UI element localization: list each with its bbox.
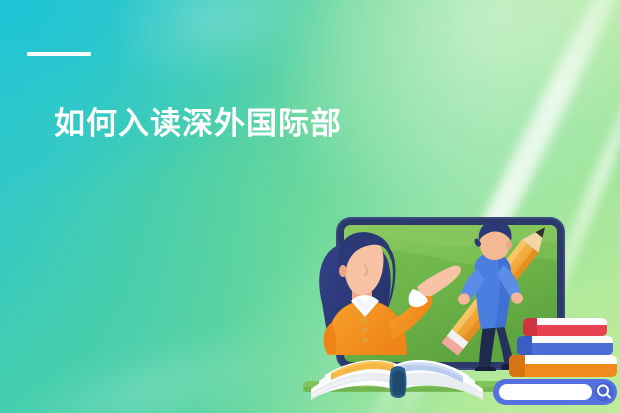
book-stack	[509, 318, 617, 377]
title-rule	[27, 52, 91, 56]
poster-root: 如何入读深外国际部	[0, 0, 620, 413]
page-title: 如何入读深外国际部	[54, 104, 342, 144]
search-bar[interactable]	[493, 379, 617, 405]
search-input[interactable]	[499, 384, 592, 400]
search-icon[interactable]	[595, 383, 614, 402]
education-illustration	[297, 203, 620, 413]
